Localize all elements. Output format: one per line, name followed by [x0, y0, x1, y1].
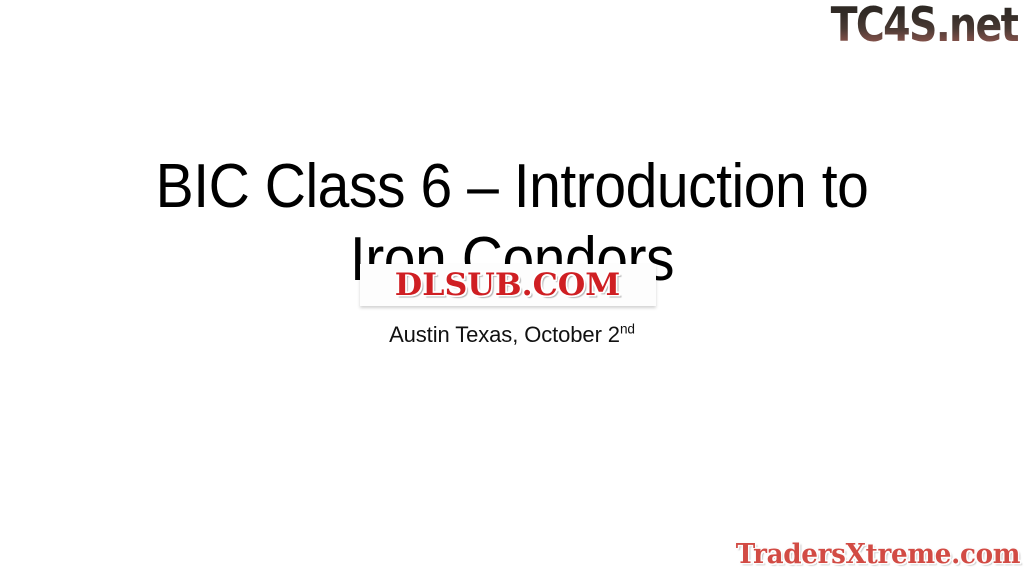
- presentation-slide: TC4S.net BIC Class 6 – Introduction to I…: [0, 0, 1024, 576]
- subtitle-block: Austin Texas, October 2nd: [0, 322, 1024, 348]
- tc4s-watermark: TC4S.net: [831, 0, 1018, 52]
- subtitle-text: Austin Texas, October 2: [389, 322, 620, 347]
- dlsub-logo-label: DLSUB.COM: [395, 267, 621, 303]
- dlsub-logo-watermark: DLSUB.COM: [360, 264, 656, 306]
- tradersxtreme-watermark: TradersXtreme.com: [736, 539, 1020, 570]
- slide-subtitle: Austin Texas, October 2nd: [0, 322, 1024, 348]
- subtitle-ordinal-suffix: nd: [620, 322, 635, 337]
